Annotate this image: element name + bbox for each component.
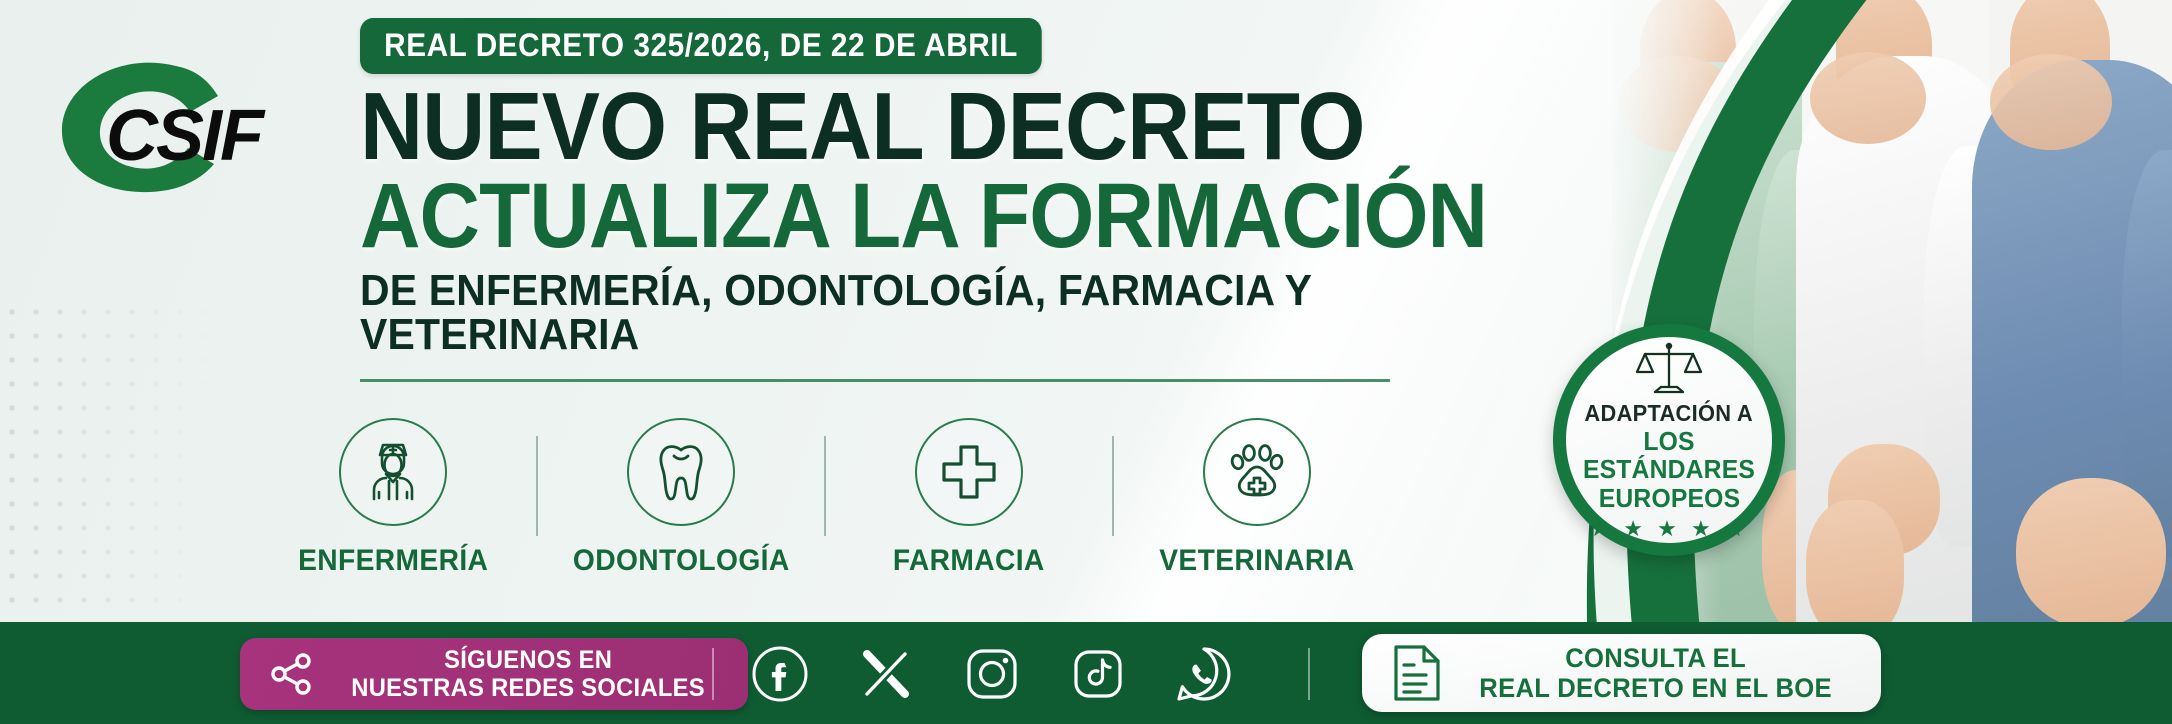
medical-cross-icon: [932, 435, 1006, 509]
follow-us-label: SÍGUENOS EN NUESTRAS REDES SOCIALES: [351, 646, 705, 702]
csif-promo-banner: CSIF REAL DECRETO 325/2026, DE 22 DE ABR…: [0, 0, 2172, 724]
discipline-label: ENFERMERÍA: [298, 544, 488, 578]
boe-line-2: REAL DECRETO EN EL BOE: [1479, 673, 1832, 703]
follow-us-button[interactable]: SÍGUENOS EN NUESTRAS REDES SOCIALES: [240, 638, 748, 710]
discipline-label: FARMACIA: [893, 544, 1045, 578]
share-icon: [266, 649, 316, 699]
discipline-label: ODONTOLOGÍA: [573, 544, 790, 578]
discipline-label: VETERINARIA: [1159, 544, 1354, 578]
footer-divider-right: [1308, 648, 1310, 700]
facebook-icon[interactable]: [748, 642, 812, 706]
nurse-icon: [356, 435, 430, 509]
horizontal-divider: [360, 379, 1390, 382]
follow-us-line-2: NUESTRAS REDES SOCIALES: [351, 674, 705, 702]
hero-subtitle: DE ENFERMERÍA, ODONTOLOGÍA, FARMACIA Y V…: [360, 269, 1523, 357]
seal-stars: ★ ★ ★ ★ ★: [1589, 518, 1748, 540]
discipline-item-farmacia: FARMACIA: [826, 418, 1112, 578]
csif-logo-text: CSIF: [106, 96, 266, 176]
instagram-icon[interactable]: [960, 642, 1024, 706]
footer-divider-left: [712, 648, 714, 700]
discipline-list: ENFERMERÍA ODONTOLOGÍA FARMACIA: [250, 418, 1400, 578]
consult-boe-label: CONSULTA EL REAL DECRETO EN EL BOE: [1479, 643, 1832, 703]
boe-line-1: CONSULTA EL: [1479, 643, 1832, 673]
tooth-icon-circle: [627, 418, 735, 526]
discipline-item-odontologia: ODONTOLOGÍA: [538, 418, 824, 578]
tiktok-icon[interactable]: [1066, 642, 1130, 706]
seal-line-1: ADAPTACIÓN A: [1585, 400, 1754, 427]
consult-boe-button[interactable]: CONSULTA EL REAL DECRETO EN EL BOE: [1362, 634, 1881, 712]
headline-line-2: ACTUALIZA LA FORMACIÓN: [360, 172, 1498, 260]
paw-cross-icon: [1220, 435, 1294, 509]
x-twitter-icon[interactable]: [854, 642, 918, 706]
hero-content: REAL DECRETO 325/2026, DE 22 DE ABRIL NU…: [360, 18, 1610, 382]
paw-cross-icon-circle: [1203, 418, 1311, 526]
medical-cross-icon-circle: [915, 418, 1023, 526]
social-icon-list: [748, 642, 1236, 706]
headline-line-1: NUEVO REAL DECRETO: [360, 82, 1498, 172]
footer-bar: SÍGUENOS EN NUESTRAS REDES SOCIALES: [0, 622, 2172, 724]
discipline-item-veterinaria: VETERINARIA: [1114, 418, 1400, 578]
seal-line-2: LOS ESTÁNDARES: [1571, 427, 1767, 483]
tooth-icon: [644, 435, 718, 509]
discipline-item-enfermeria: ENFERMERÍA: [250, 418, 536, 578]
follow-us-line-1: SÍGUENOS EN: [351, 646, 705, 674]
seal-line-3: EUROPEOS: [1598, 484, 1740, 512]
whatsapp-icon[interactable]: [1172, 642, 1236, 706]
halftone-dot-pattern: [0, 300, 230, 620]
document-icon: [1390, 643, 1444, 703]
nurse-icon-circle: [339, 418, 447, 526]
european-standards-seal: ADAPTACIÓN A LOS ESTÁNDARES EUROPEOS ★ ★…: [1553, 324, 1785, 556]
decree-badge: REAL DECRETO 325/2026, DE 22 DE ABRIL: [360, 18, 1042, 74]
scales-of-justice-icon: [1635, 340, 1703, 396]
csif-logo: CSIF: [48, 44, 298, 204]
